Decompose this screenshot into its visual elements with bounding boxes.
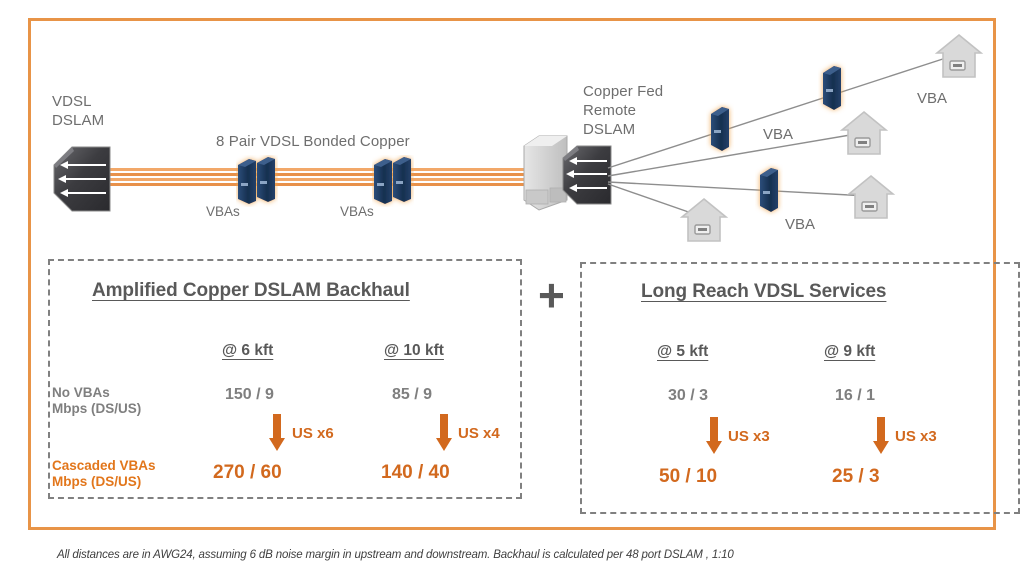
column-header-backhaul-0: @ 6 kft: [222, 342, 273, 360]
value-longreach-novba-9kft: 16 / 1: [835, 387, 875, 405]
gain-label-backhaul-6kft: US x6: [292, 425, 334, 442]
value-backhaul-novba-6kft: 150 / 9: [225, 386, 274, 404]
panel-title-backhaul: Amplified Copper DSLAM Backhaul: [92, 280, 410, 302]
column-header-longreach-1: @ 9 kft: [824, 343, 875, 361]
value-longreach-cascaded-9kft: 25 / 3: [832, 466, 880, 488]
value-longreach-novba-5kft: 30 / 3: [668, 387, 708, 405]
vba-device-middle: [706, 102, 734, 156]
column-header-backhaul-1: @ 10 kft: [384, 342, 444, 360]
panel-title-long-reach: Long Reach VDSL Services: [641, 281, 886, 303]
house-icon-2: [838, 108, 890, 160]
gain-arrow-backhaul-6kft: [268, 414, 286, 452]
diagram-root: VDSL DSLAM: [0, 0, 1024, 576]
footnote-line-1: All distances are in AWG24, assuming 6 d…: [57, 549, 734, 561]
gain-label-longreach-5kft: US x3: [728, 428, 770, 445]
gain-label-backhaul-10kft: US x4: [458, 425, 500, 442]
vba-label-bottom: VBA: [785, 216, 815, 233]
value-longreach-cascaded-5kft: 50 / 10: [659, 466, 717, 488]
value-backhaul-cascaded-10kft: 140 / 40: [381, 462, 450, 484]
vba-label-top: VBA: [917, 90, 947, 107]
gain-label-longreach-9kft: US x3: [895, 428, 937, 445]
vba-device-bottom: [755, 163, 783, 217]
gain-arrow-longreach-5kft: [705, 417, 723, 455]
column-header-longreach-0: @ 5 kft: [657, 343, 708, 361]
value-backhaul-novba-10kft: 85 / 9: [392, 386, 432, 404]
vba-device-top: [818, 61, 846, 115]
gain-arrow-longreach-9kft: [872, 417, 890, 455]
house-icon-4: [678, 195, 730, 247]
house-icon-1: [933, 31, 985, 83]
gain-arrow-backhaul-10kft: [435, 414, 453, 452]
value-backhaul-cascaded-6kft: 270 / 60: [213, 462, 282, 484]
row-label-no-vbas: No VBAs Mbps (DS/US): [52, 385, 182, 417]
plus-separator: +: [538, 272, 565, 318]
row-label-cascaded-vbas: Cascaded VBAs Mbps (DS/US): [52, 458, 192, 490]
house-icon-3: [845, 172, 897, 224]
vba-label-middle: VBA: [763, 126, 793, 143]
